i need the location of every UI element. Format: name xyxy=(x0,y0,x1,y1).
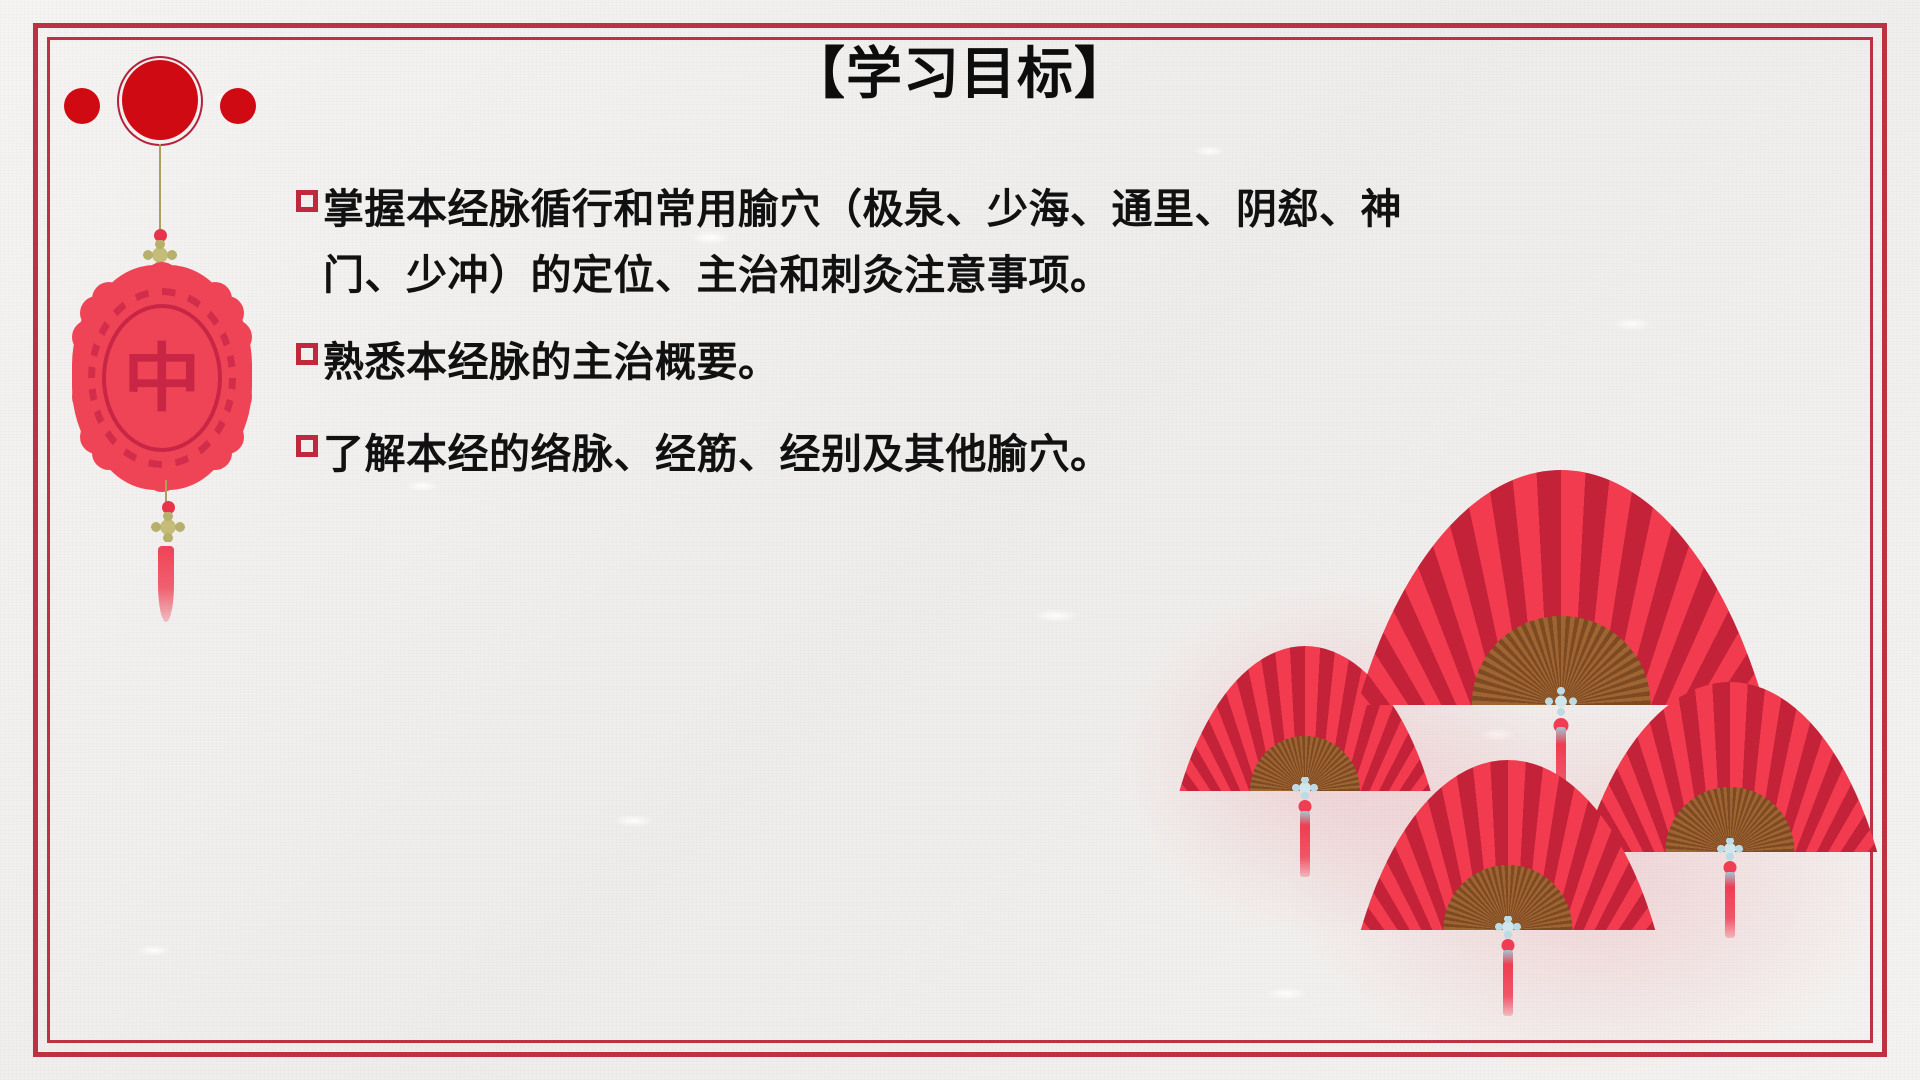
objectives-list: 掌握本经脉循行和常用腧穴（极泉、少海、通里、阴郄、神门、少冲）的定位、主治和刺灸… xyxy=(296,176,1476,514)
chinese-knot-lower-icon xyxy=(146,510,190,544)
pendant-tassel xyxy=(158,546,174,622)
hollow-square-bullet-icon xyxy=(296,435,318,457)
knot-body-lower xyxy=(148,512,188,542)
slide-canvas: 中 【学习目标】 掌握本经脉循行和常用腧穴（极泉、少海、通里、阴郄、神门、少冲）… xyxy=(0,0,1920,1080)
hanging-pendant-ornament: 中 xyxy=(62,48,292,698)
list-item: 了解本经的络脉、经筋、经别及其他腧穴。 xyxy=(296,421,1476,487)
list-item: 掌握本经脉循行和常用腧穴（极泉、少海、通里、阴郄、神门、少冲）的定位、主治和刺灸… xyxy=(296,176,1476,309)
hollow-square-bullet-icon xyxy=(296,343,318,365)
list-item-label: 掌握本经脉循行和常用腧穴（极泉、少海、通里、阴郄、神门、少冲）的定位、主治和刺灸… xyxy=(323,176,1476,309)
page-title: 【学习目标】 xyxy=(0,40,1920,107)
medallion-character: 中 xyxy=(78,342,246,416)
list-item-label: 了解本经的络脉、经筋、经别及其他腧穴。 xyxy=(323,421,1476,487)
list-item-label: 熟悉本经脉的主治概要。 xyxy=(323,329,1476,395)
hollow-square-bullet-icon xyxy=(296,190,318,212)
medallion-zhong: 中 xyxy=(78,270,246,485)
list-item: 熟悉本经脉的主治概要。 xyxy=(296,329,1476,395)
